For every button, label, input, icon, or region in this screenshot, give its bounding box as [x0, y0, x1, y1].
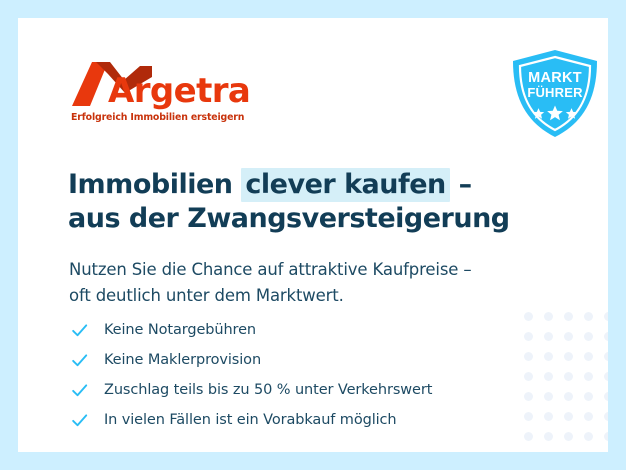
headline-line-2: aus der Zwangsversteigerung [68, 202, 568, 236]
decorative-dot [578, 326, 598, 346]
benefit-list-item: In vielen Fällen ist ein Vorabkauf mögli… [70, 405, 432, 435]
subheadline: Nutzen Sie die Chance auf attraktive Kau… [69, 257, 589, 309]
decorative-dot [578, 366, 598, 386]
subheadline-line-1: Nutzen Sie die Chance auf attraktive Kau… [69, 257, 589, 283]
decorative-dot [538, 366, 558, 386]
check-icon [70, 381, 96, 400]
decorative-dot-grid [518, 306, 608, 452]
decorative-dot [558, 306, 578, 326]
market-leader-badge: MARKT FÜHRER [507, 48, 603, 140]
decorative-dot [598, 326, 608, 346]
decorative-dot [558, 326, 578, 346]
decorative-dot [598, 306, 608, 326]
decorative-dot [558, 446, 578, 452]
check-icon [70, 411, 96, 430]
benefit-label: Keine Maklerprovision [96, 352, 261, 368]
decorative-dot [518, 426, 538, 446]
banner-card: Argetra Erfolgreich Immobilien ersteiger… [18, 18, 608, 452]
benefit-list-item: Keine Notargebühren [70, 315, 432, 345]
check-icon [70, 321, 96, 340]
benefit-list-item: Keine Maklerprovision [70, 345, 432, 375]
decorative-dot [598, 386, 608, 406]
benefit-label: Zuschlag teils bis zu 50 % unter Verkehr… [96, 382, 432, 398]
decorative-dot [558, 366, 578, 386]
decorative-dot [578, 306, 598, 326]
decorative-dot [518, 366, 538, 386]
decorative-dot [538, 426, 558, 446]
argetra-wordmark: Argetra [108, 74, 250, 108]
decorative-dot [558, 386, 578, 406]
decorative-dot [598, 406, 608, 426]
shield-badge-icon [507, 48, 603, 140]
promo-banner: Argetra Erfolgreich Immobilien ersteiger… [0, 0, 626, 470]
decorative-dot [538, 306, 558, 326]
decorative-dot [538, 386, 558, 406]
headline-highlight: clever kaufen [241, 168, 449, 202]
decorative-dot [518, 306, 538, 326]
benefit-label: Keine Notargebühren [96, 322, 256, 338]
argetra-logo[interactable]: Argetra Erfolgreich Immobilien ersteiger… [70, 60, 270, 126]
decorative-dot [578, 406, 598, 426]
decorative-dot [598, 366, 608, 386]
decorative-dot [598, 446, 608, 452]
decorative-dot [538, 406, 558, 426]
headline-line-1: Immobilien clever kaufen – [68, 168, 568, 202]
decorative-dot [578, 446, 598, 452]
decorative-dot [578, 386, 598, 406]
benefit-list-item: Zuschlag teils bis zu 50 % unter Verkehr… [70, 375, 432, 405]
headline: Immobilien clever kaufen – aus der Zwang… [68, 168, 568, 237]
decorative-dot [518, 346, 538, 366]
benefit-list: Keine NotargebührenKeine Maklerprovision… [70, 315, 432, 435]
decorative-dot [578, 426, 598, 446]
decorative-dot [558, 406, 578, 426]
decorative-dot [558, 426, 578, 446]
argetra-tagline: Erfolgreich Immobilien ersteigern [71, 112, 244, 123]
decorative-dot [518, 446, 538, 452]
benefit-label: In vielen Fällen ist ein Vorabkauf mögli… [96, 412, 397, 428]
headline-text-after: – [450, 169, 472, 200]
decorative-dot [538, 326, 558, 346]
decorative-dot [578, 346, 598, 366]
decorative-dot [538, 446, 558, 452]
decorative-dot [518, 326, 538, 346]
subheadline-line-2: oft deutlich unter dem Marktwert. [69, 283, 589, 309]
decorative-dot [538, 346, 558, 366]
decorative-dot [598, 346, 608, 366]
decorative-dot [558, 346, 578, 366]
decorative-dot [518, 406, 538, 426]
check-icon [70, 351, 96, 370]
headline-text-before: Immobilien [68, 169, 241, 200]
decorative-dot [598, 426, 608, 446]
decorative-dot [518, 386, 538, 406]
